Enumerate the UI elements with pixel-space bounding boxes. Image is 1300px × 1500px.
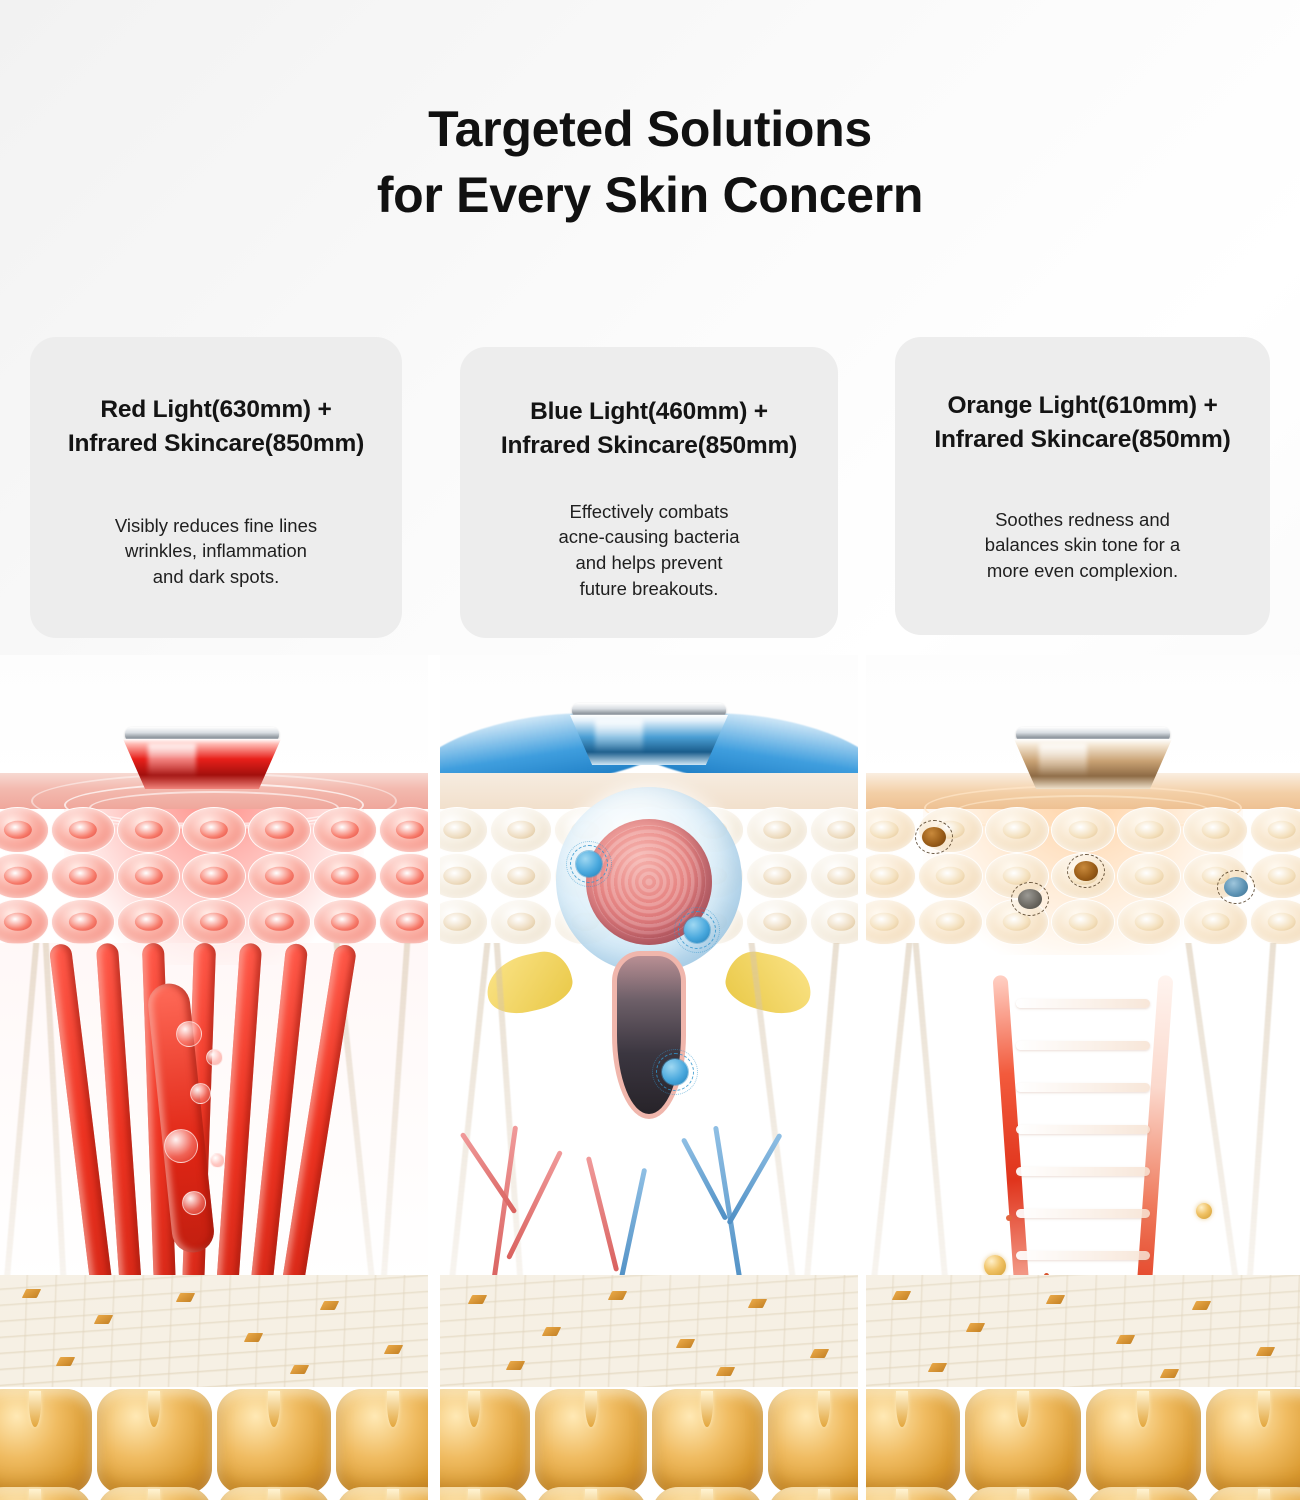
skin-cell: [746, 807, 808, 853]
gold-fleck: [716, 1367, 735, 1376]
gold-fleck: [56, 1357, 75, 1366]
gold-fleck: [1256, 1347, 1275, 1356]
dermal-fiber: [746, 943, 799, 1283]
light-bubble: [210, 1153, 225, 1168]
dna-rung: [1016, 1125, 1150, 1134]
collagen-strand: [1, 943, 41, 1283]
fat-cell-row: [866, 1487, 1300, 1500]
gold-fleck: [1046, 1295, 1065, 1304]
fat-cell: [965, 1487, 1081, 1500]
fat-cell: [97, 1389, 211, 1494]
skin-cell: [985, 807, 1049, 853]
dermal-fiber: [446, 943, 493, 1283]
skin-cell: [182, 853, 245, 899]
gold-fleck: [290, 1365, 309, 1374]
collagen-strand: [378, 943, 411, 1283]
fat-cell: [768, 1389, 858, 1494]
fat-cell: [1086, 1487, 1202, 1500]
fat-cell-row: [440, 1487, 858, 1500]
device-highlight: [1039, 743, 1086, 777]
gold-fleck: [892, 1291, 911, 1300]
dna-rung: [1016, 1167, 1150, 1176]
light-bubble: [164, 1129, 198, 1163]
red-light-treatment-head-icon: [123, 727, 281, 789]
skin-cell: [0, 853, 49, 899]
fat-cell: [336, 1487, 428, 1500]
fat-cell-row: [0, 1389, 428, 1494]
gold-fleck: [506, 1361, 525, 1370]
melanin-cluster: [1074, 861, 1098, 881]
fat-cell: [217, 1389, 331, 1494]
gold-fleck: [676, 1339, 695, 1348]
skin-cell: [1117, 853, 1181, 899]
device-highlight: [148, 743, 195, 777]
gold-fleck: [1192, 1301, 1211, 1310]
blue-light-treatment-head-icon: [570, 703, 728, 765]
skin-cell: [182, 899, 245, 945]
feature-card-description: Soothes redness and balances skin tone f…: [913, 507, 1252, 585]
subcutaneous-fat-layer: [0, 1383, 428, 1500]
skin-cell: [1051, 899, 1115, 945]
cell-row: [0, 899, 428, 945]
fat-cell-row: [440, 1389, 858, 1494]
fat-cell: [768, 1487, 858, 1500]
gold-fleck: [748, 1299, 767, 1308]
illustration-red-light: [0, 655, 428, 1500]
skin-cell: [51, 807, 114, 853]
feature-card-title: Orange Light(610mm) + Infrared Skincare(…: [913, 389, 1252, 457]
cell-layer: [0, 805, 428, 945]
gold-fleck: [244, 1333, 263, 1342]
skin-cell: [490, 899, 552, 945]
page-title-line-2: for Every Skin Concern: [0, 162, 1300, 228]
dermal-fiber: [911, 943, 951, 1283]
skin-cell: [440, 899, 488, 945]
fat-cell: [1206, 1389, 1300, 1494]
orange-light-treatment-head-icon: [1014, 727, 1172, 789]
device-body: [570, 715, 728, 765]
gold-fleck: [1116, 1335, 1135, 1344]
skin-cell: [313, 807, 376, 853]
fat-cell: [1206, 1487, 1300, 1500]
fat-cell: [535, 1389, 647, 1494]
subcutaneous-fat-layer: [866, 1383, 1300, 1500]
panel-divider: [428, 655, 440, 1500]
bacteria-icon: [684, 917, 710, 943]
dermal-fiber: [868, 943, 915, 1283]
skin-cell: [248, 807, 311, 853]
skin-cell: [866, 853, 916, 899]
fat-cell: [535, 1487, 647, 1500]
skin-cell: [490, 853, 552, 899]
fat-cell-row: [866, 1389, 1300, 1494]
fat-cell: [965, 1389, 1081, 1494]
fat-cell: [440, 1389, 530, 1494]
gold-fleck: [320, 1301, 339, 1310]
illustration-blue-light: [440, 655, 858, 1500]
skin-cell: [810, 853, 858, 899]
feature-card-title: Red Light(630mm) + Infrared Skincare(850…: [48, 393, 384, 461]
feature-card-description: Effectively combats acne-causing bacteri…: [478, 499, 820, 603]
fat-cell: [217, 1487, 331, 1500]
fat-cell: [0, 1487, 92, 1500]
skin-cell: [866, 899, 916, 945]
skin-cell: [810, 899, 858, 945]
skin-cell: [490, 807, 552, 853]
feature-card-red-light[interactable]: Red Light(630mm) + Infrared Skincare(850…: [30, 337, 402, 638]
skin-cell: [810, 807, 858, 853]
gold-fleck: [1160, 1369, 1179, 1378]
skin-cell: [313, 853, 376, 899]
device-body: [123, 739, 281, 789]
skin-cell: [1051, 807, 1115, 853]
light-bubble: [206, 1049, 223, 1066]
amber-particle: [984, 1255, 1006, 1277]
skin-cell: [746, 899, 808, 945]
dna-rung: [1016, 1041, 1150, 1050]
cell-row: [0, 807, 428, 853]
skin-cell: [0, 807, 49, 853]
light-bubble: [190, 1083, 211, 1104]
skin-cell: [117, 807, 180, 853]
feature-card-title: Blue Light(460mm) + Infrared Skincare(85…: [478, 395, 820, 463]
feature-card-blue-light[interactable]: Blue Light(460mm) + Infrared Skincare(85…: [460, 347, 838, 638]
dna-helix: [998, 975, 1168, 1305]
gold-fleck: [542, 1327, 561, 1336]
skin-cell: [379, 853, 428, 899]
reticular-dermis-layer: [0, 1275, 428, 1387]
page-title-line-1: Targeted Solutions: [0, 96, 1300, 162]
feature-card-orange-light[interactable]: Orange Light(610mm) + Infrared Skincare(…: [895, 337, 1270, 635]
skin-cell: [440, 853, 488, 899]
feature-card-row: Red Light(630mm) + Infrared Skincare(850…: [0, 337, 1300, 647]
cell-row: [866, 899, 1300, 945]
gold-fleck: [608, 1291, 627, 1300]
gold-fleck: [928, 1363, 947, 1372]
page-title: Targeted Solutions for Every Skin Concer…: [0, 96, 1300, 228]
fat-cell: [336, 1389, 428, 1494]
skin-cell: [379, 807, 428, 853]
illustration-orange-light: [866, 655, 1300, 1500]
light-bubble: [182, 1191, 206, 1215]
fat-cell: [440, 1487, 530, 1500]
fat-cell: [0, 1389, 92, 1494]
bacteria-icon: [576, 851, 602, 877]
fat-cell: [652, 1389, 764, 1494]
device-highlight: [595, 719, 642, 753]
fat-cell: [652, 1487, 764, 1500]
skin-cell: [248, 853, 311, 899]
skin-cell: [248, 899, 311, 945]
skin-illustration-band: [0, 655, 1300, 1500]
melanin-cluster: [922, 827, 946, 847]
amber-particle: [1196, 1203, 1212, 1219]
skin-cell: [1183, 899, 1247, 945]
fat-cell: [866, 1487, 960, 1500]
cell-row: [0, 853, 428, 899]
gold-fleck: [22, 1289, 41, 1298]
light-bubble: [176, 1021, 202, 1047]
subcutaneous-fat-layer: [440, 1383, 858, 1500]
skin-cell: [866, 807, 916, 853]
panel-divider: [858, 655, 866, 1500]
reticular-dermis-layer: [866, 1275, 1300, 1387]
skin-cell: [182, 807, 245, 853]
skin-cell: [1117, 807, 1181, 853]
skin-cell: [1250, 853, 1300, 899]
gold-fleck: [176, 1293, 195, 1302]
collagen-bundle: [64, 943, 364, 1293]
reticular-dermis-layer: [440, 1275, 858, 1387]
skin-cell: [117, 853, 180, 899]
dermal-fiber: [801, 943, 841, 1283]
gold-fleck: [384, 1345, 403, 1354]
feature-card-description: Visibly reduces fine lines wrinkles, inf…: [48, 513, 384, 591]
skin-cell: [1117, 899, 1181, 945]
gold-fleck: [966, 1323, 985, 1332]
skin-cell: [0, 899, 49, 945]
skin-cell: [313, 899, 376, 945]
skin-cell: [51, 899, 114, 945]
dna-rung: [1016, 1083, 1150, 1092]
gold-fleck: [810, 1349, 829, 1358]
skin-cell: [918, 899, 982, 945]
skin-cell: [117, 899, 180, 945]
skin-cell: [51, 853, 114, 899]
fat-cell: [1086, 1389, 1202, 1494]
skin-cell: [1183, 807, 1247, 853]
fat-cell: [866, 1389, 960, 1494]
melanin-cluster: [1224, 877, 1248, 897]
pigment-speck: [1006, 1215, 1012, 1221]
fat-cell: [97, 1487, 211, 1500]
dermal-fiber: [1183, 943, 1243, 1283]
skin-cell: [1250, 899, 1300, 945]
gold-fleck: [94, 1315, 113, 1324]
dermal-fiber: [1244, 943, 1277, 1283]
skin-cell: [1250, 807, 1300, 853]
melanin-cluster: [1018, 889, 1042, 909]
dna-rung: [1016, 1209, 1150, 1218]
skin-cell: [918, 853, 982, 899]
fat-cell-row: [0, 1487, 428, 1500]
gold-fleck: [468, 1295, 487, 1304]
skin-cell: [379, 899, 428, 945]
device-body: [1014, 739, 1172, 789]
dna-rung: [1016, 1251, 1150, 1260]
dna-rung: [1016, 999, 1150, 1008]
skin-cell: [440, 807, 488, 853]
skin-cell: [746, 853, 808, 899]
